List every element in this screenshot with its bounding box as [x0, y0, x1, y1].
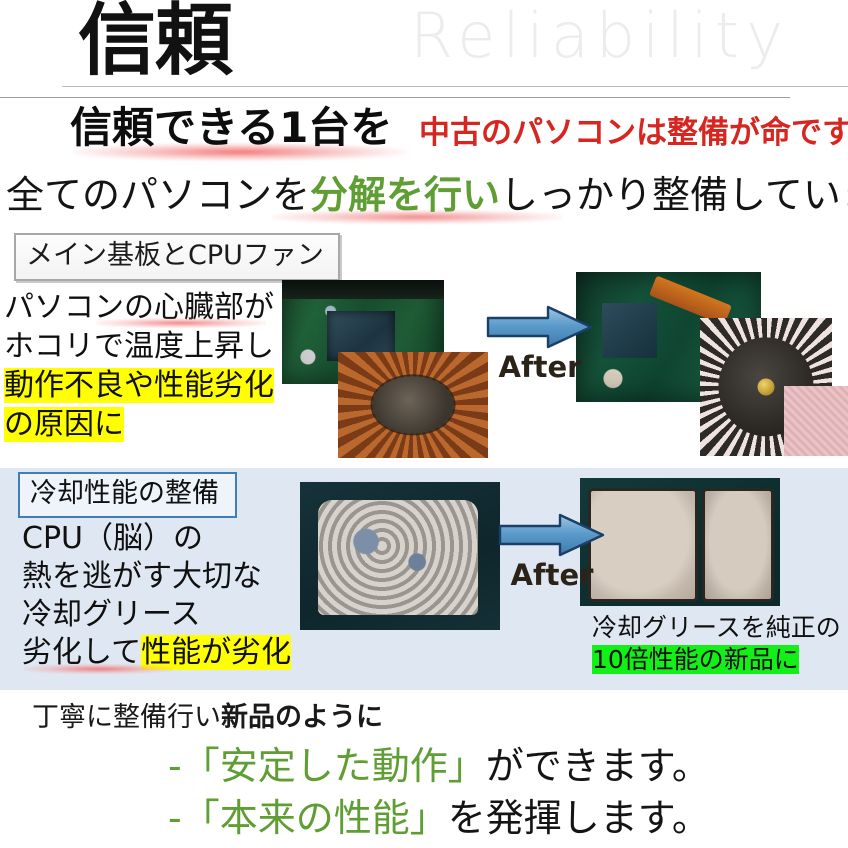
right-arrow-icon: [486, 304, 594, 350]
footer-line-3-quoted: 「本来の性能」: [182, 796, 448, 840]
footer-line-3: -「本来の性能」を発揮します。: [168, 794, 710, 842]
infographic-page: Reliability 信頼 信頼できる1台を 中古のパソコンは整備が命です。 …: [0, 0, 848, 848]
footer-line-3-dash: -: [168, 796, 182, 840]
section1-line-2: ホコリで温度上昇し: [4, 327, 274, 366]
section1-line-4: の原因に: [4, 407, 124, 442]
section1-underline-glow: [96, 318, 266, 328]
section1-body-text: パソコンの心臓部が ホコリで温度上昇し 動作不良や性能劣化 の原因に: [4, 288, 274, 444]
new-thermal-grease-photo: [580, 478, 780, 606]
subheadline-red-note: 中古のパソコンは整備が命です。: [419, 112, 848, 154]
right-arrow-icon: [498, 512, 606, 558]
section2-body-text: CPU（脳）の 熱を逃がす大切な 冷却グリース 劣化して性能が劣化: [22, 520, 291, 672]
section2-line-3: 冷却グリース: [22, 596, 291, 634]
footer-line-1: 丁寧に整備行い新品のように: [32, 700, 383, 736]
section1-tag-label: メイン基板とCPUファン: [14, 233, 340, 281]
lead-text-before: 全てのパソコンを: [6, 173, 310, 217]
reliability-watermark: Reliability: [410, 0, 790, 76]
section2-underline-glow: [24, 664, 174, 674]
old-thermal-grease-photo: [300, 482, 500, 630]
page-title: 信頼: [78, 0, 232, 84]
section1-after-arrow-group: After: [486, 304, 594, 386]
footer-line-2-quoted: 「安定した動作」: [182, 744, 486, 788]
footer-line-2: -「安定した動作」ができます。: [168, 742, 710, 790]
footer-line-2-rest: ができます。: [486, 744, 710, 788]
section1-after-label: After: [486, 350, 594, 384]
section2-right-line-2: 10倍性能の新品に: [592, 645, 799, 674]
section2-line-2: 熱を逃がす大切な: [22, 558, 291, 596]
section2-right-line-1: 冷却グリースを純正の: [592, 612, 841, 644]
subheadline-row: 信頼できる1台を 中古のパソコンは整備が命です。: [0, 103, 848, 161]
lead-text-highlight: 分解を行い: [310, 173, 500, 217]
section1-line-3: 動作不良や性能劣化: [4, 368, 274, 403]
lead-text-after: しっかり整備しています。: [500, 173, 848, 217]
section2-tag-label: 冷却性能の整備: [18, 472, 237, 518]
subheadline-main: 信頼できる1台を: [70, 101, 392, 155]
hero-header: Reliability 信頼: [0, 0, 848, 100]
section2-right-caption: 冷却グリースを純正の 10倍性能の新品に: [592, 612, 841, 676]
divider-rule-bottom: [0, 97, 790, 98]
footer-line-2-dash: -: [168, 744, 182, 788]
footer-line-3-rest: を発揮します。: [448, 796, 710, 840]
lead-text: 全てのパソコンを分解を行いしっかり整備しています。: [6, 170, 848, 220]
divider-rule-top: [62, 86, 848, 87]
footer-line-1-b: 新品のように: [221, 702, 383, 733]
decorative-pink-strip: [784, 386, 848, 456]
section2-line-1: CPU（脳）の: [22, 520, 291, 558]
dusty-fan-photo: [338, 352, 488, 458]
section2-after-arrow-group: After: [498, 512, 606, 594]
section2-after-label: After: [498, 558, 606, 592]
footer-line-1-a: 丁寧に整備行い: [32, 702, 221, 733]
footer-conclusion: 丁寧に整備行い新品のように -「安定した動作」ができます。 -「本来の性能」を発…: [0, 692, 848, 848]
lead-statement: 全てのパソコンを分解を行いしっかり整備しています。: [0, 170, 848, 222]
